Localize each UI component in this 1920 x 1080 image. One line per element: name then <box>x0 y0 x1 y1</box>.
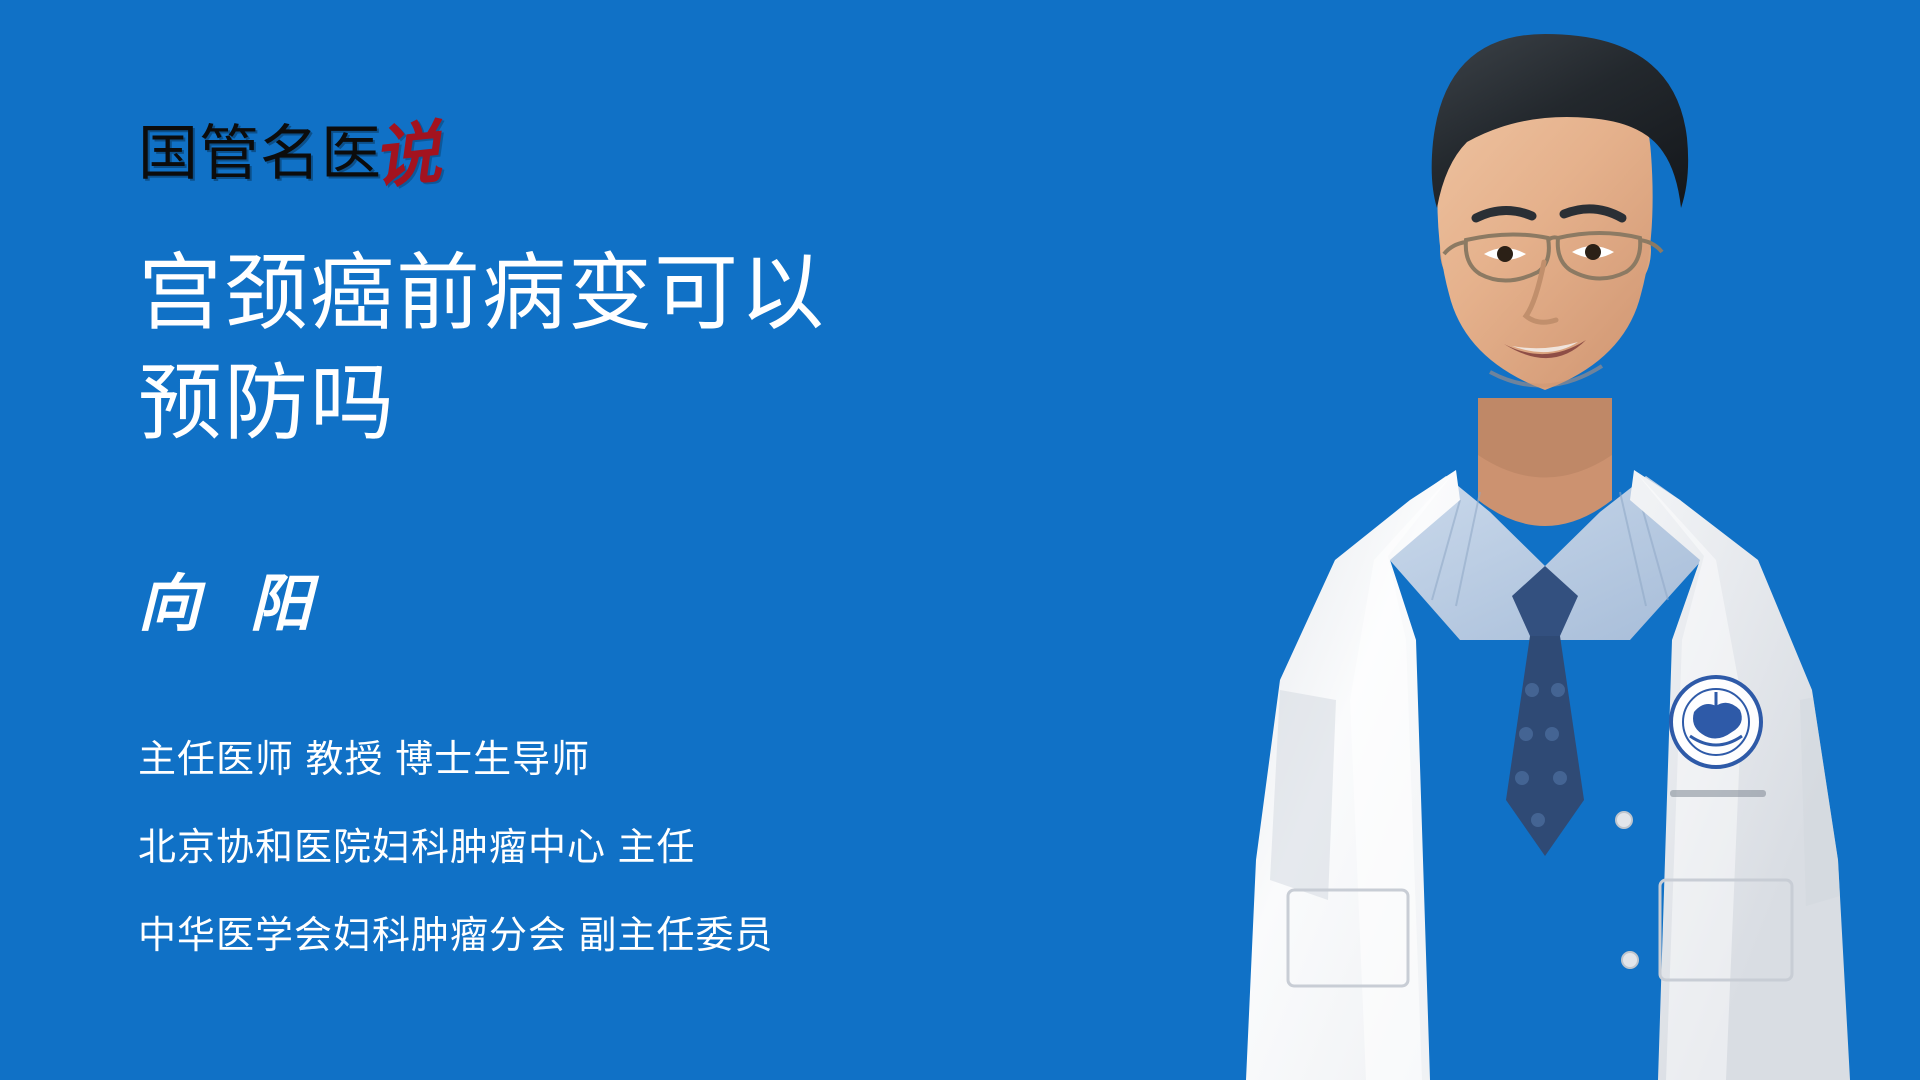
portrait-coat-detail <box>1270 470 1860 1080</box>
portrait-svg <box>1160 0 1920 1080</box>
portrait-pupil-right <box>1585 244 1601 260</box>
portrait-coat-emblem-text <box>1670 790 1766 797</box>
portrait-tie-pattern <box>1515 683 1567 827</box>
portrait-neck-shadow <box>1478 398 1612 478</box>
portrait-white-coat <box>1246 470 1850 1080</box>
title-line-1: 宫颈癌前病变可以 <box>138 238 1018 348</box>
portrait-nose <box>1526 262 1556 322</box>
slide-root: 国管名医 说 宫颈癌前病变可以 预防吗 向 阳 主任医师 教授 博士生导师 北京… <box>0 0 1920 1080</box>
portrait-ear-left <box>1440 216 1480 284</box>
portrait-neck <box>1478 398 1612 526</box>
portrait-eyebrow-left <box>1476 210 1532 218</box>
portrait-glasses-icon <box>1444 233 1662 281</box>
presenter-name: 向 阳 <box>138 568 326 639</box>
portrait-coat-emblem-icon <box>1670 676 1762 768</box>
credential-line-2: 北京协和医院妇科肿瘤中心 主任 <box>138 804 1038 892</box>
title-line-2: 预防吗 <box>138 348 1018 458</box>
brand-logo-accent-text: 说 <box>369 119 444 194</box>
brand-logo: 国管名医 说 <box>138 108 440 184</box>
portrait-mouth <box>1504 340 1586 358</box>
portrait-tie <box>1506 636 1584 856</box>
portrait-eyebrow-right <box>1564 209 1622 218</box>
credential-line-1: 主任医师 教授 博士生导师 <box>138 716 1038 804</box>
portrait-eye-right <box>1572 246 1614 258</box>
portrait-chin-shadow <box>1490 366 1602 386</box>
portrait-shirt <box>1372 476 1720 640</box>
portrait-teeth <box>1512 342 1578 352</box>
portrait-eye-left <box>1484 248 1526 260</box>
portrait-pupil-left <box>1497 246 1513 262</box>
portrait-tie-knot <box>1512 566 1578 660</box>
portrait-shirt-stripes <box>1432 492 1668 606</box>
presenter-portrait-photo <box>1160 0 1920 1080</box>
portrait-ear-right <box>1609 214 1651 286</box>
credential-line-3: 中华医学会妇科肿瘤分会 副主任委员 <box>138 892 1038 980</box>
brand-logo-main-text: 国管名医 <box>138 124 382 184</box>
presenter-credentials: 主任医师 教授 博士生导师 北京协和医院妇科肿瘤中心 主任 中华医学会妇科肿瘤分… <box>138 716 1038 980</box>
title-block: 宫颈癌前病变可以 预防吗 <box>138 238 1018 458</box>
portrait-hair <box>1432 34 1688 208</box>
portrait-face <box>1437 44 1652 390</box>
